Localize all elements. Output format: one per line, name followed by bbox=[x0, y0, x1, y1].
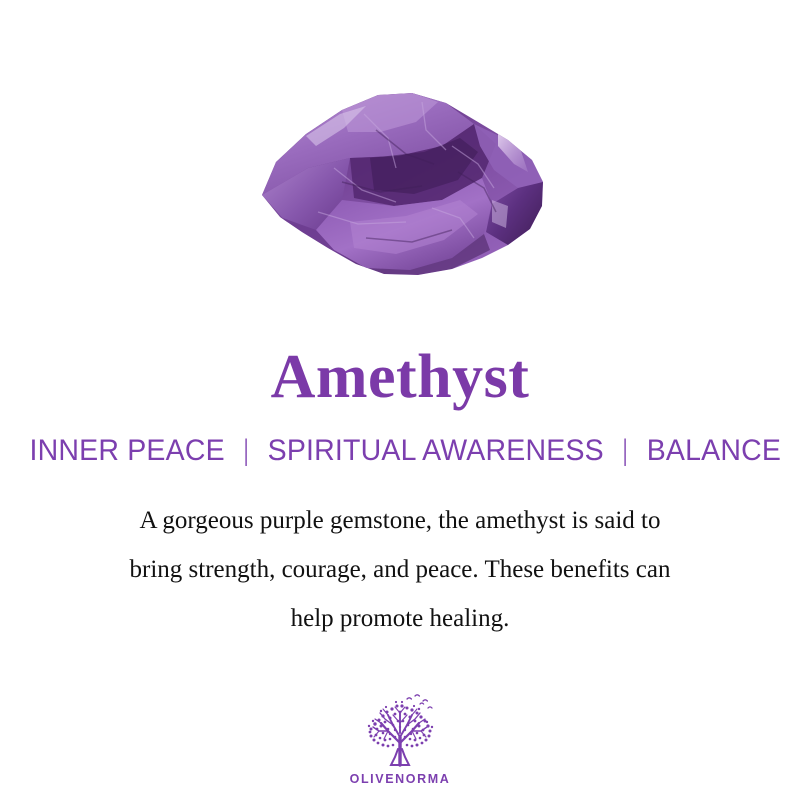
page-title: Amethyst bbox=[271, 346, 530, 408]
description-line: A gorgeous purple gemstone, the amethyst… bbox=[50, 496, 750, 545]
description-text: A gorgeous purple gemstone, the amethyst… bbox=[50, 496, 750, 643]
keyword-balance: BALANCE bbox=[647, 434, 781, 467]
description-line: help promote healing. bbox=[50, 594, 750, 643]
tree-branches bbox=[373, 707, 427, 765]
keyword-separator: | bbox=[238, 434, 254, 468]
keyword-spiritual-awareness: SPIRITUAL AWARENESS bbox=[268, 434, 604, 467]
amethyst-gemstone-image bbox=[246, 72, 556, 304]
brand-logo: OLIVENORMA bbox=[0, 693, 800, 786]
keyword-separator: | bbox=[617, 434, 633, 468]
brand-name: OLIVENORMA bbox=[350, 772, 451, 786]
keyword-strip: INNER PEACE | SPIRITUAL AWARENESS | BALA… bbox=[30, 434, 771, 468]
description-line: bring strength, courage, and peace. Thes… bbox=[50, 545, 750, 594]
amethyst-info-card: Amethyst INNER PEACE | SPIRITUAL AWARENE… bbox=[0, 0, 800, 800]
keyword-inner-peace: INNER PEACE bbox=[30, 434, 225, 467]
tree-of-life-icon bbox=[357, 693, 443, 769]
flying-birds-icon bbox=[407, 695, 432, 708]
gemstone-image-stage bbox=[0, 0, 800, 320]
